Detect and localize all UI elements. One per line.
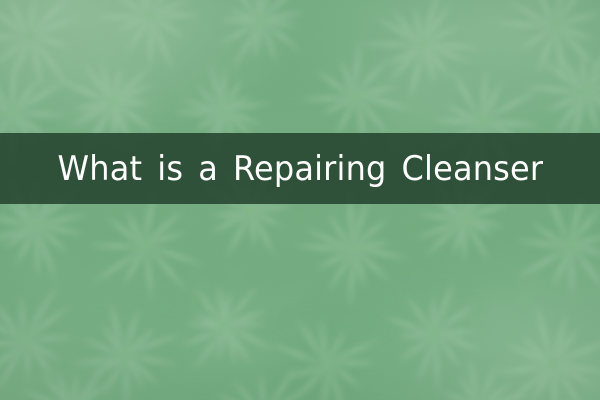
featured-image-card: What is a Repairing Cleanser [0, 0, 600, 400]
page-title: What is a Repairing Cleanser [57, 152, 543, 186]
title-banner: What is a Repairing Cleanser [0, 133, 600, 204]
